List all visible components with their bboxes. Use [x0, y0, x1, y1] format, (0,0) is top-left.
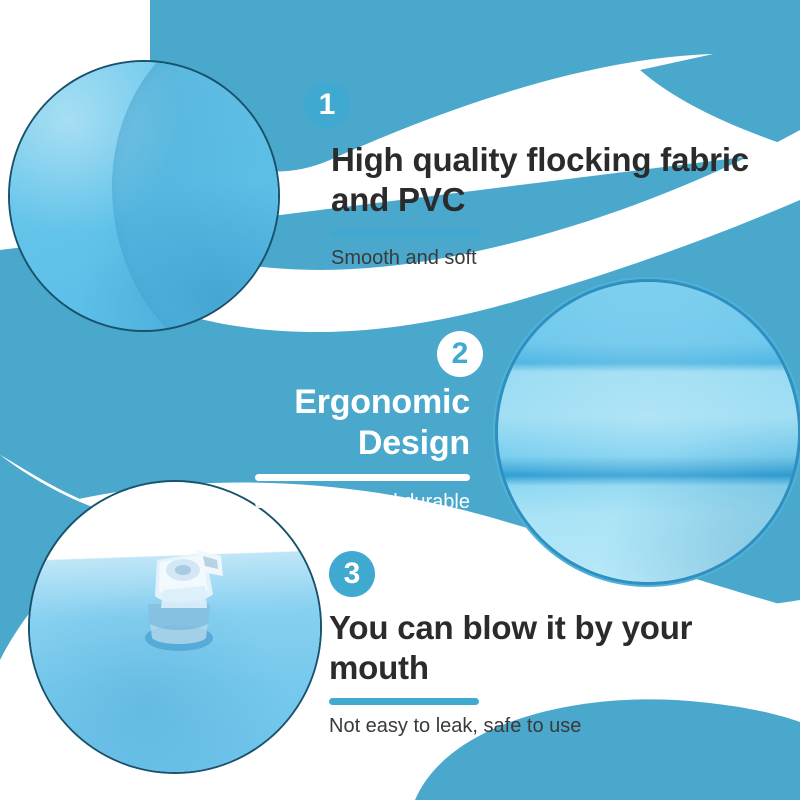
inflation-valve-icon [127, 542, 231, 658]
badge-number-1: 1 [319, 90, 336, 120]
feature-subtitle-2: comfortable and durable [175, 490, 470, 515]
feature-badge-1: 1 [304, 82, 350, 128]
feature-text-1: High quality flocking fabric and PVC Smo… [331, 140, 783, 271]
feature-rule-3 [329, 698, 479, 705]
badge-number-2: 2 [452, 339, 469, 369]
feature-badge-3: 3 [329, 551, 375, 597]
feature-photo-2 [498, 282, 798, 582]
pillow-shading [498, 282, 798, 582]
badge-number-3: 3 [344, 559, 361, 589]
feature-badge-2: 2 [437, 331, 483, 377]
feature-photo-1 [10, 62, 278, 330]
infographic-canvas: 1 High quality flocking fabric and PVC S… [0, 0, 800, 800]
feature-text-2: Ergonomic Design comfortable and durable [175, 382, 470, 515]
feature-rule-1 [331, 230, 481, 237]
feature-heading-2: Ergonomic Design [175, 382, 470, 465]
feature-subtitle-3: Not easy to leak, safe to use [329, 714, 784, 739]
feature-text-3: You can blow it by your mouth Not easy t… [329, 608, 784, 739]
feature-heading-1: High quality flocking fabric and PVC [331, 140, 783, 221]
feature-subtitle-1: Smooth and soft [331, 246, 783, 271]
feature-photo-3 [30, 482, 320, 772]
feature-heading-3: You can blow it by your mouth [329, 608, 784, 689]
feature-rule-2 [255, 474, 470, 481]
